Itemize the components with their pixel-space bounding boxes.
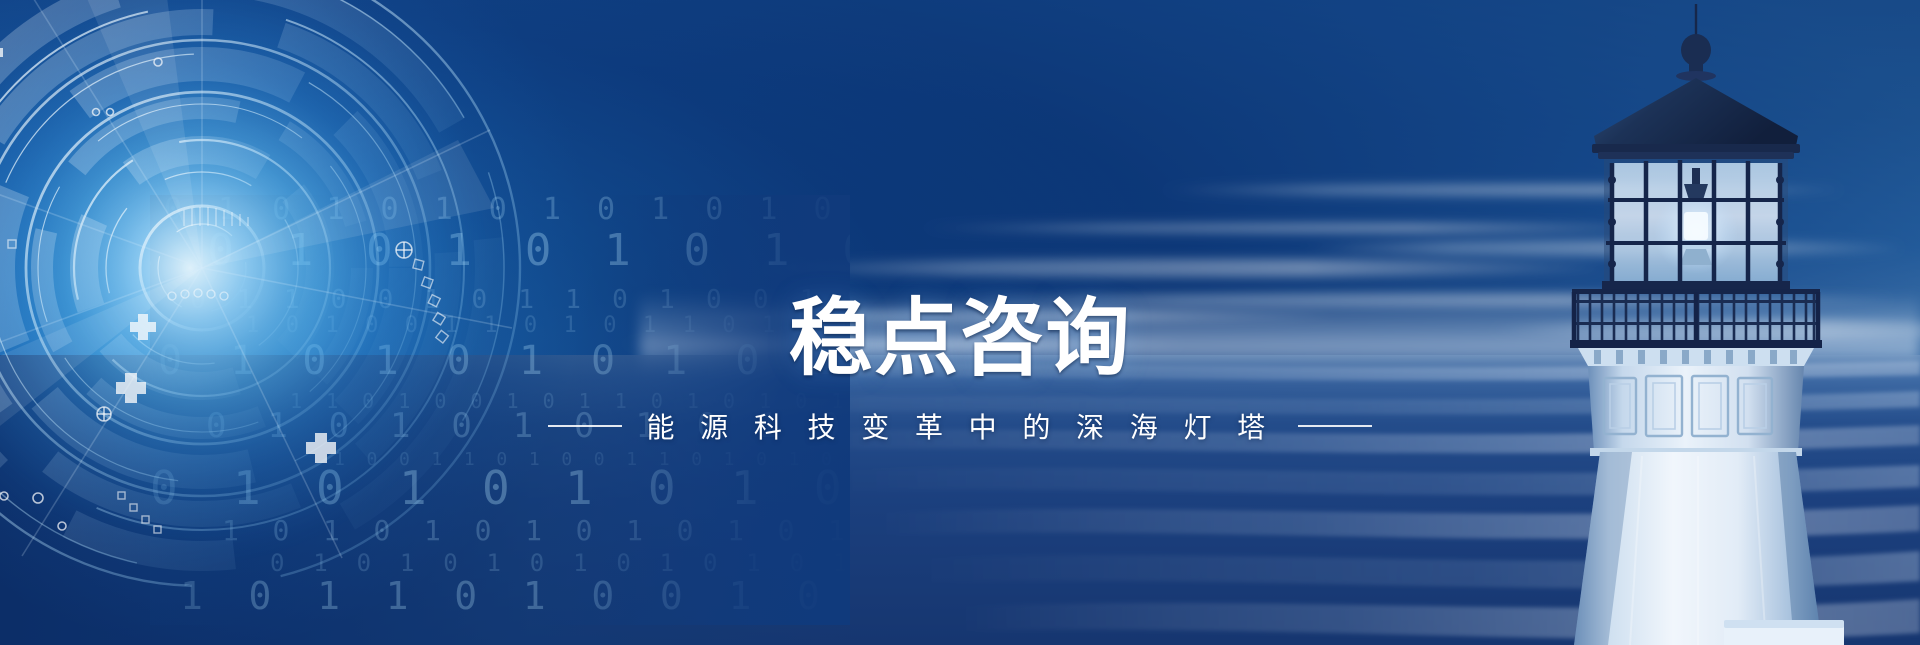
subtitle-row: 能 源 科 技 变 革 中 的 深 海 灯 塔 <box>0 406 1920 446</box>
page-title: 稳点咨询 <box>0 296 1920 380</box>
headline-block: 稳点咨询 能 源 科 技 变 革 中 的 深 海 灯 塔 <box>0 296 1920 446</box>
page-subtitle: 能 源 科 技 变 革 中 的 深 海 灯 塔 <box>646 406 1273 446</box>
hero-banner: 0 1 0 1 0 1 0 1 0 1 0 1 0 1 0 1 0 1 0 1 … <box>0 0 1920 645</box>
left-rule <box>548 425 622 427</box>
right-rule <box>1298 425 1372 427</box>
